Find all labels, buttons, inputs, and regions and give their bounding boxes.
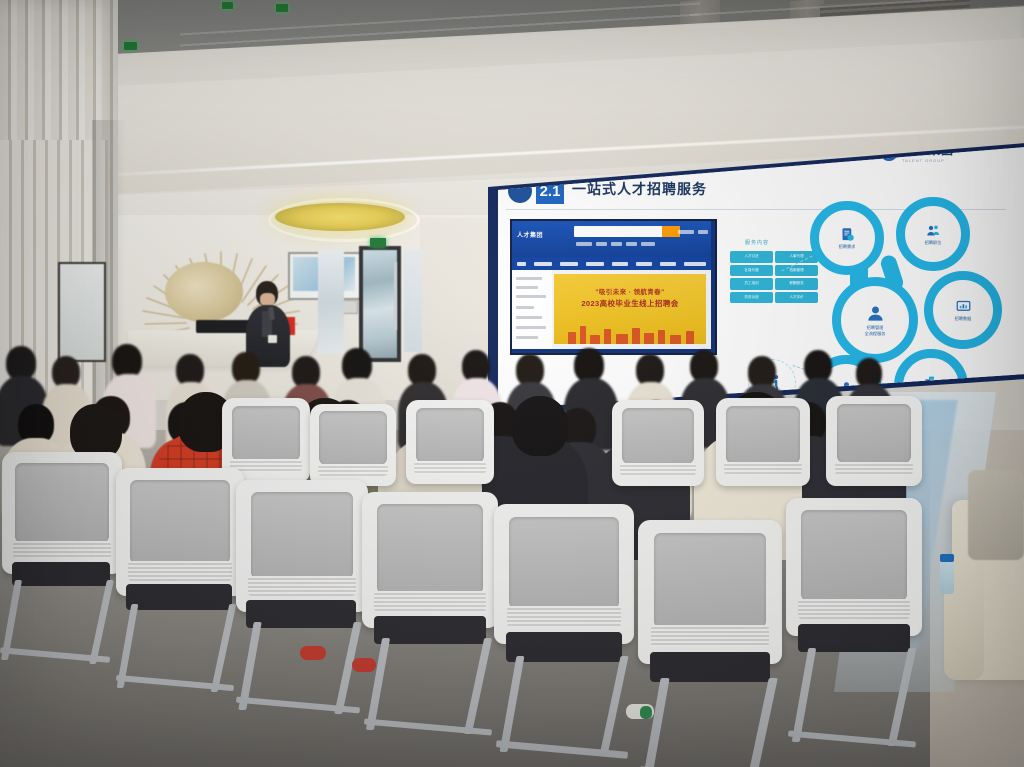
exit-sign-icon	[370, 238, 386, 247]
person-head	[112, 344, 142, 378]
service-grid-cell[interactable]: 薪酬服务	[775, 278, 818, 290]
website-header-tag[interactable]	[611, 242, 622, 246]
exit-sign-icon	[124, 42, 137, 50]
people-group-icon	[926, 223, 941, 238]
person-head	[342, 348, 372, 382]
website-nav	[512, 257, 711, 270]
user-center-icon	[866, 304, 885, 323]
monitor-chart-icon	[956, 299, 971, 314]
banner-subheadline: 2023高校毕业生线上招聘会	[554, 298, 706, 309]
website-header-tag[interactable]	[576, 242, 592, 246]
website-nav-item[interactable]	[560, 262, 578, 266]
brand-subtitle: TALENT GROUP	[902, 158, 954, 163]
counter-equipment	[196, 320, 252, 333]
website-sidebar-item[interactable]	[516, 286, 538, 289]
service-grid-cell[interactable]: 人才引进	[730, 251, 773, 263]
website-header-tag[interactable]	[641, 242, 655, 246]
exit-sign-icon	[222, 2, 233, 9]
slide-logo-icon	[508, 179, 532, 203]
shoe	[352, 658, 376, 672]
diagram-node[interactable]: 招聘职位	[896, 197, 970, 271]
diagram-node[interactable]: 招聘需求	[810, 201, 884, 275]
chair[interactable]	[310, 404, 396, 486]
diagram-node-label: 招聘职位	[925, 240, 942, 245]
person-head	[512, 396, 568, 456]
chair[interactable]	[362, 492, 498, 628]
website-sidebar-item[interactable]	[516, 316, 542, 319]
website-nav-item[interactable]	[684, 262, 706, 266]
website-nav-item[interactable]	[660, 262, 676, 266]
service-grid-cell[interactable]: 人才评价	[775, 292, 818, 304]
chair[interactable]	[494, 504, 634, 644]
chair[interactable]	[826, 396, 922, 486]
chair[interactable]	[236, 480, 368, 612]
diagram-node-label: 招聘数据	[955, 316, 972, 321]
water-bottle-cap	[940, 554, 954, 562]
website-nav-item[interactable]	[517, 262, 526, 266]
shoe-accent	[640, 706, 652, 719]
service-grid-cell[interactable]: 劳务派遣	[730, 292, 773, 304]
chair[interactable]	[786, 498, 922, 636]
website-header-link[interactable]	[678, 230, 694, 234]
website-nav-item[interactable]	[636, 262, 652, 266]
exit-sign-icon	[276, 4, 288, 12]
website-sidebar-item[interactable]	[516, 277, 542, 280]
wall-plaque	[342, 300, 358, 314]
chair[interactable]	[116, 468, 244, 596]
chair[interactable]	[406, 400, 494, 484]
website-header-tag[interactable]	[596, 242, 607, 246]
document-icon	[840, 227, 855, 242]
website-nav-item[interactable]	[586, 262, 604, 266]
service-grid-cell[interactable]: 社保代缴	[730, 265, 773, 277]
person-head	[574, 348, 604, 382]
diagram-node-label: 招聘需求	[839, 244, 856, 249]
website-sidebar-item[interactable]	[516, 306, 534, 309]
ceiling-cove-light	[275, 203, 405, 231]
window-sidelite	[404, 250, 422, 352]
chair[interactable]	[2, 452, 122, 574]
website-logo: 人才集团	[517, 230, 543, 239]
website-sidebar-item[interactable]	[516, 326, 546, 329]
website-header-tag[interactable]	[626, 242, 637, 246]
photo-scene: 人才集团 TALENT GROUP 2.1 一站式人才招聘服务 人才集团	[0, 0, 1024, 767]
water-bottle[interactable]	[940, 560, 954, 594]
shoe	[300, 646, 326, 660]
chair[interactable]	[638, 520, 782, 664]
website-screenshot: 人才集团	[510, 219, 717, 355]
chair[interactable]	[612, 400, 704, 486]
website-nav-item[interactable]	[534, 262, 552, 266]
diagram-grid-title: 服务内容	[745, 239, 769, 246]
banner-headline: "吸引未来 · 领航青春"	[554, 286, 706, 296]
diagram-node-label: 招聘管理 全流程服务	[865, 325, 886, 336]
door-handle[interactable]	[394, 262, 397, 330]
website-nav-item[interactable]	[612, 262, 628, 266]
sunburst-center	[165, 262, 243, 322]
service-grid-cell[interactable]: 员工培训	[730, 278, 773, 290]
website-banner[interactable]: "吸引未来 · 领航青春" 2023高校毕业生线上招聘会	[554, 274, 706, 344]
person-head	[6, 346, 36, 380]
website-header: 人才集团	[512, 221, 711, 257]
website-header-link[interactable]	[698, 230, 708, 234]
chair[interactable]	[716, 398, 810, 486]
website-sidebar-item[interactable]	[516, 295, 546, 298]
